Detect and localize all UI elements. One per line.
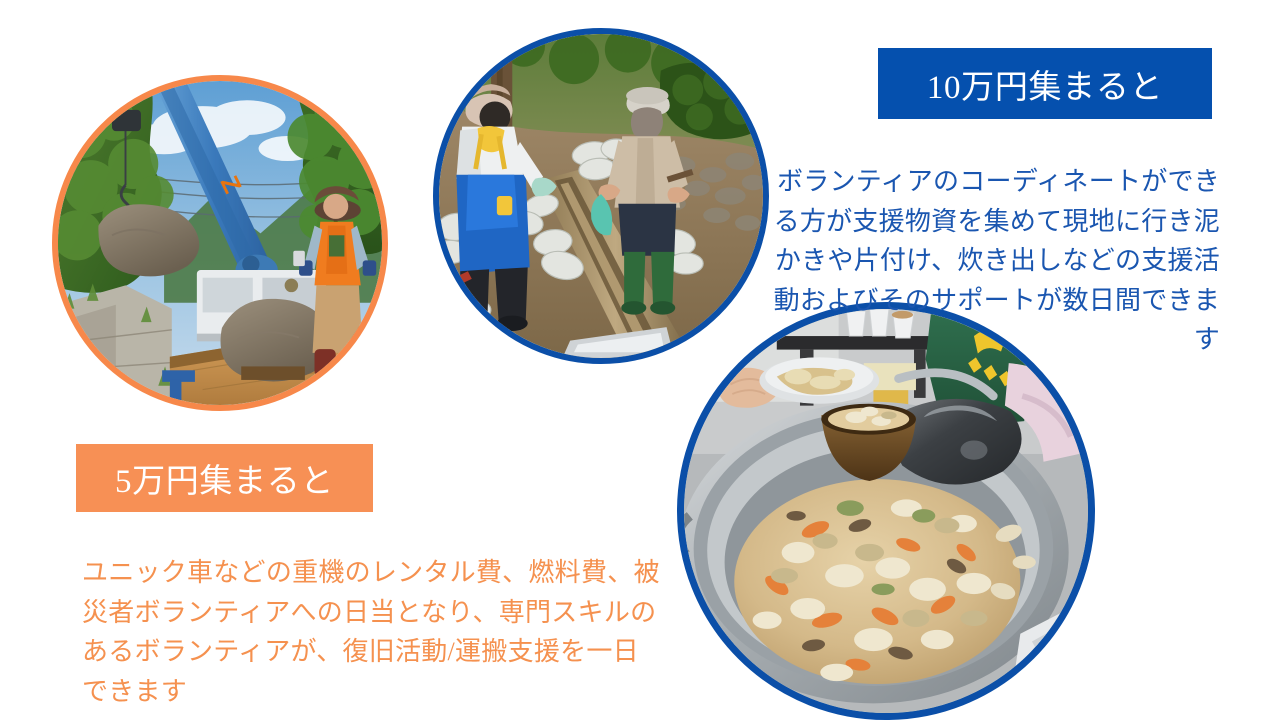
slide-canvas: Z bbox=[0, 0, 1280, 720]
crane-truck-illustration: Z bbox=[58, 81, 382, 405]
photo-sandbag-volunteers-image bbox=[439, 34, 763, 358]
photo-sandbag-volunteers bbox=[433, 28, 769, 364]
photo-soup-kitchen-image bbox=[684, 309, 1088, 713]
tier-50k-description: ユニック車などの重機のレンタル費、燃料費、被災者ボランティアへの日当となり、専門… bbox=[82, 553, 662, 711]
photo-soup-kitchen bbox=[677, 302, 1095, 720]
tier-100k-description: ボランティアのコーディネートができる方が支援物資を集めて現地に行き泥かきや片付け… bbox=[772, 162, 1220, 360]
tier-50k-banner-label: 5万円集まると bbox=[115, 454, 334, 502]
photo-crane-truck-image: Z bbox=[58, 81, 382, 405]
sandbag-volunteers-illustration bbox=[439, 34, 763, 358]
photo-crane-truck: Z bbox=[52, 75, 388, 411]
tier-50k-banner: 5万円集まると bbox=[76, 444, 373, 512]
soup-kitchen-illustration bbox=[684, 309, 1088, 713]
tier-100k-banner: 10万円集まると bbox=[878, 48, 1212, 119]
tier-100k-banner-label: 10万円集まると bbox=[927, 60, 1163, 108]
